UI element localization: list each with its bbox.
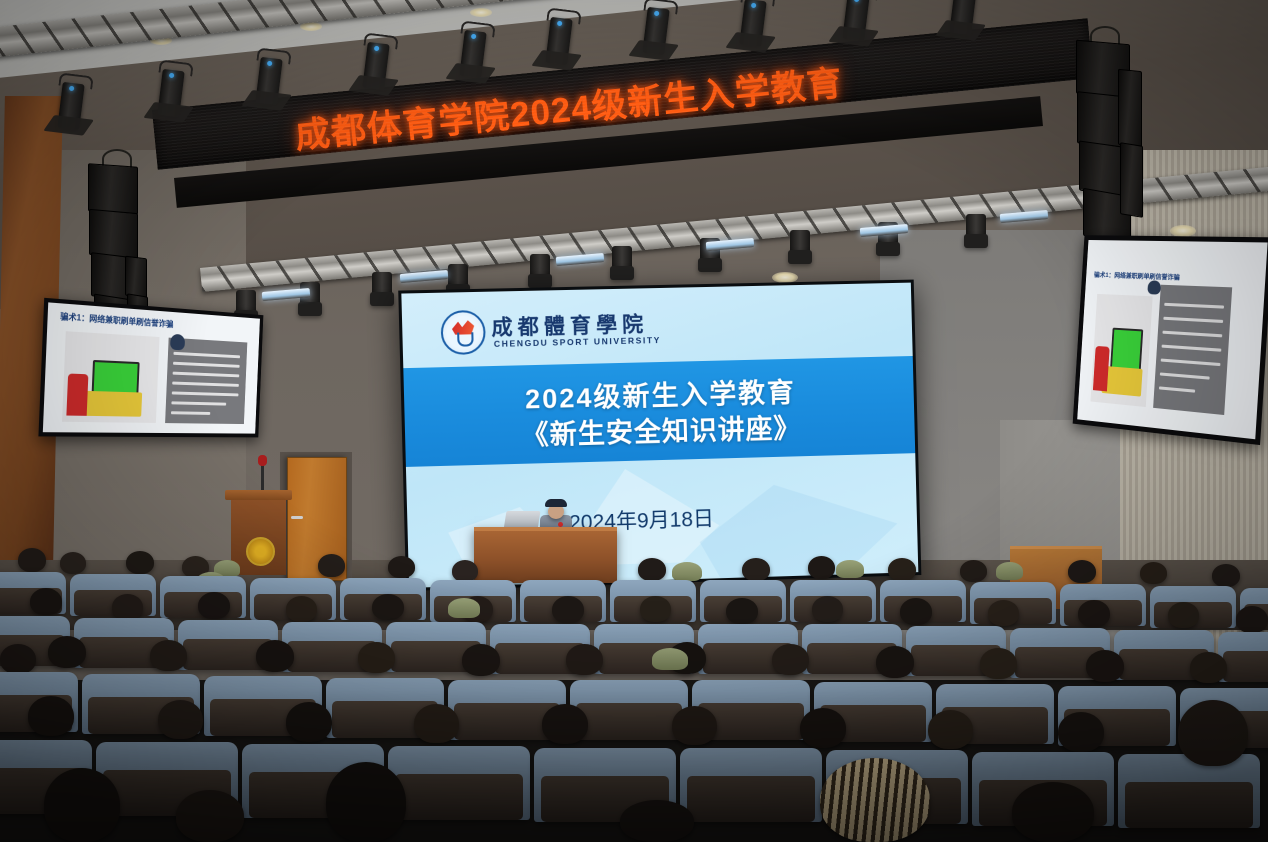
audience-head <box>256 640 294 672</box>
audience-head <box>542 704 588 744</box>
audience-head <box>48 636 86 668</box>
audience-camo-cap <box>996 562 1023 580</box>
wooden-lectern <box>231 497 286 575</box>
door-handle-icon <box>291 516 303 519</box>
slide-title-band: 2024级新生入学教育 《新生安全知识讲座》 <box>403 356 915 467</box>
audience-head <box>876 646 914 678</box>
left-side-display: 骗术1：网络兼职刷单刷信誉诈骗 <box>38 298 263 438</box>
audience-head <box>742 558 770 581</box>
officer-cap-icon <box>545 499 567 507</box>
audience-head <box>640 596 671 622</box>
wooden-podium <box>474 527 617 583</box>
slide-header: 成都體育學院 CHENGDU SPORT UNIVERSITY <box>401 283 912 365</box>
audience-head <box>372 594 404 620</box>
fresnel-light <box>842 0 869 41</box>
left-display-slide: 骗术1：网络兼职刷单刷信誉诈骗 <box>43 302 260 433</box>
audience-camo-cap <box>448 598 480 618</box>
moving-head-light <box>448 264 468 290</box>
audience-head <box>150 640 187 671</box>
moving-head-light <box>236 290 256 316</box>
audience-camo-cap <box>672 562 702 581</box>
audience-camo-cap <box>836 560 864 578</box>
audience-head-blonde <box>820 758 930 842</box>
audience-seat <box>570 680 688 740</box>
audience-head <box>726 598 758 624</box>
moving-head-light <box>966 214 986 240</box>
audience-seat <box>1118 754 1260 828</box>
moving-head-light <box>612 246 632 272</box>
audience-head <box>1236 606 1268 633</box>
audience-head <box>900 598 932 625</box>
audience-seat <box>680 748 822 822</box>
moving-head-light <box>790 230 810 256</box>
audience-head <box>960 560 987 582</box>
audience-head <box>672 706 717 745</box>
audience-head <box>158 700 203 739</box>
audience-head <box>44 768 120 842</box>
audience-head <box>1178 700 1248 766</box>
audience-head <box>988 600 1019 626</box>
audience-head <box>928 710 973 749</box>
fresnel-light <box>642 7 669 55</box>
audience-head <box>318 554 345 577</box>
fresnel-light <box>459 30 486 78</box>
audience-head <box>358 642 395 673</box>
audience-head <box>198 592 230 619</box>
audience-head <box>28 696 74 736</box>
moving-head-light <box>530 254 550 280</box>
audience-head <box>1212 564 1240 587</box>
audience-head <box>552 596 584 623</box>
audience-head <box>888 558 916 581</box>
audience-head <box>326 762 406 842</box>
audience-head <box>176 790 244 842</box>
audience-seat <box>388 746 530 820</box>
audience-head <box>812 596 843 622</box>
audience-head <box>30 588 62 615</box>
audience-head <box>1078 600 1110 627</box>
audience-head <box>1068 560 1096 583</box>
audience-head <box>638 558 666 581</box>
audience-head <box>800 708 846 748</box>
audience-head <box>126 551 154 574</box>
right-side-display: 骗术1：网络兼职刷单刷信誉诈骗 <box>1073 235 1268 445</box>
right-slide-title: 骗术1：网络兼职刷单刷信誉诈骗 <box>1094 269 1180 282</box>
ceiling-downlight <box>1170 225 1196 237</box>
audience-head <box>620 800 694 842</box>
audience-head <box>808 556 835 579</box>
audience-head <box>18 548 46 572</box>
right-display-slide: 骗术1：网络兼职刷单刷信誉诈骗 <box>1077 240 1267 439</box>
fresnel-light <box>255 57 282 105</box>
audience-head <box>0 644 36 674</box>
audience-head <box>452 560 478 582</box>
fresnel-light <box>362 42 389 90</box>
audience-head <box>980 648 1017 679</box>
auditorium-photo: 成都体育学院2024级新生入学教育 <box>0 0 1268 842</box>
audience-camo-cap <box>652 648 688 670</box>
audience-head <box>566 644 603 675</box>
audience-head <box>1168 602 1199 628</box>
fresnel-light <box>739 0 766 47</box>
audience-head <box>1058 712 1104 752</box>
audience-head <box>1012 782 1094 842</box>
audience-head <box>414 704 459 743</box>
audience-head <box>112 594 143 620</box>
audience-head <box>462 644 500 676</box>
fresnel-light <box>57 82 84 130</box>
lectern-microphone <box>261 462 264 492</box>
fresnel-light <box>949 0 976 35</box>
audience-head <box>286 596 317 622</box>
audience-head <box>772 644 809 675</box>
fresnel-light <box>545 17 572 65</box>
audience-head <box>1190 652 1227 683</box>
audience-head <box>1140 562 1167 584</box>
fresnel-light <box>157 69 184 117</box>
ceiling-downlight <box>470 8 492 17</box>
audience-head <box>1086 650 1124 682</box>
audience-head <box>286 702 332 742</box>
audience-head <box>60 552 86 574</box>
moving-head-light <box>372 272 392 298</box>
lectern-emblem-icon <box>246 537 275 566</box>
university-crest-icon <box>440 310 486 355</box>
left-slide-title: 骗术1：网络兼职刷单刷信誉诈骗 <box>60 311 174 330</box>
audience-head <box>388 556 415 578</box>
